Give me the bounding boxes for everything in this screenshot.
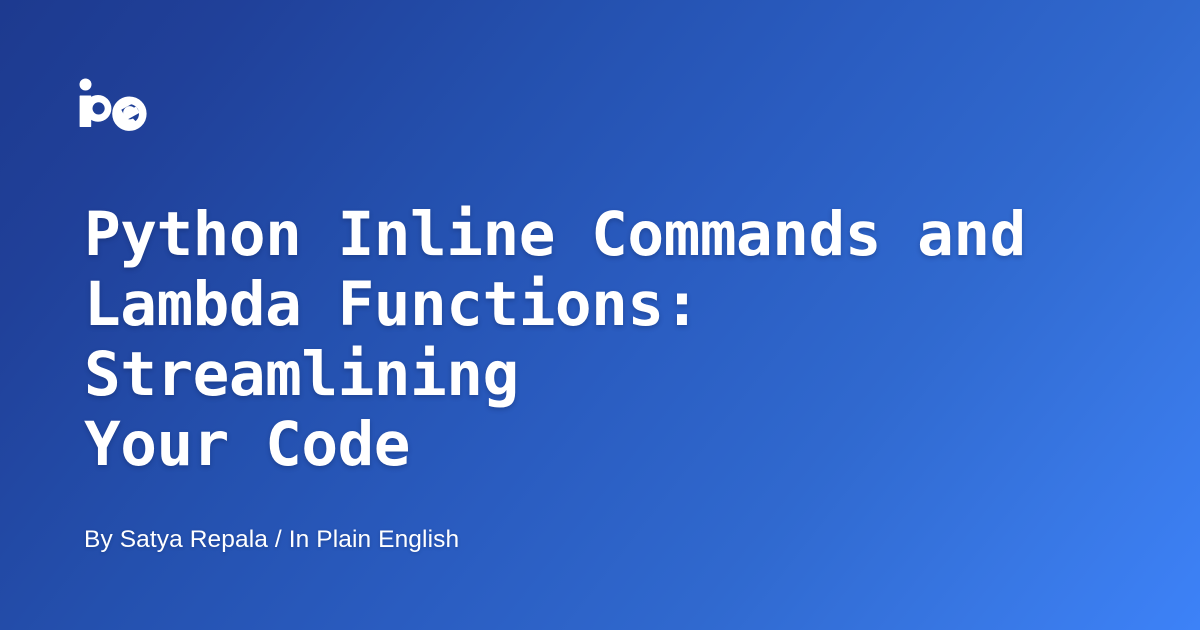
article-byline: By Satya Repala / In Plain English [84,524,459,556]
in-plain-english-logo-icon [76,78,148,128]
in-plain-english-logo[interactable] [76,78,148,128]
title-block: Python Inline Commands and Lambda Functi… [84,200,1144,480]
article-share-card: Python Inline Commands and Lambda Functi… [0,0,1200,630]
article-title: Python Inline Commands and Lambda Functi… [84,200,1144,480]
